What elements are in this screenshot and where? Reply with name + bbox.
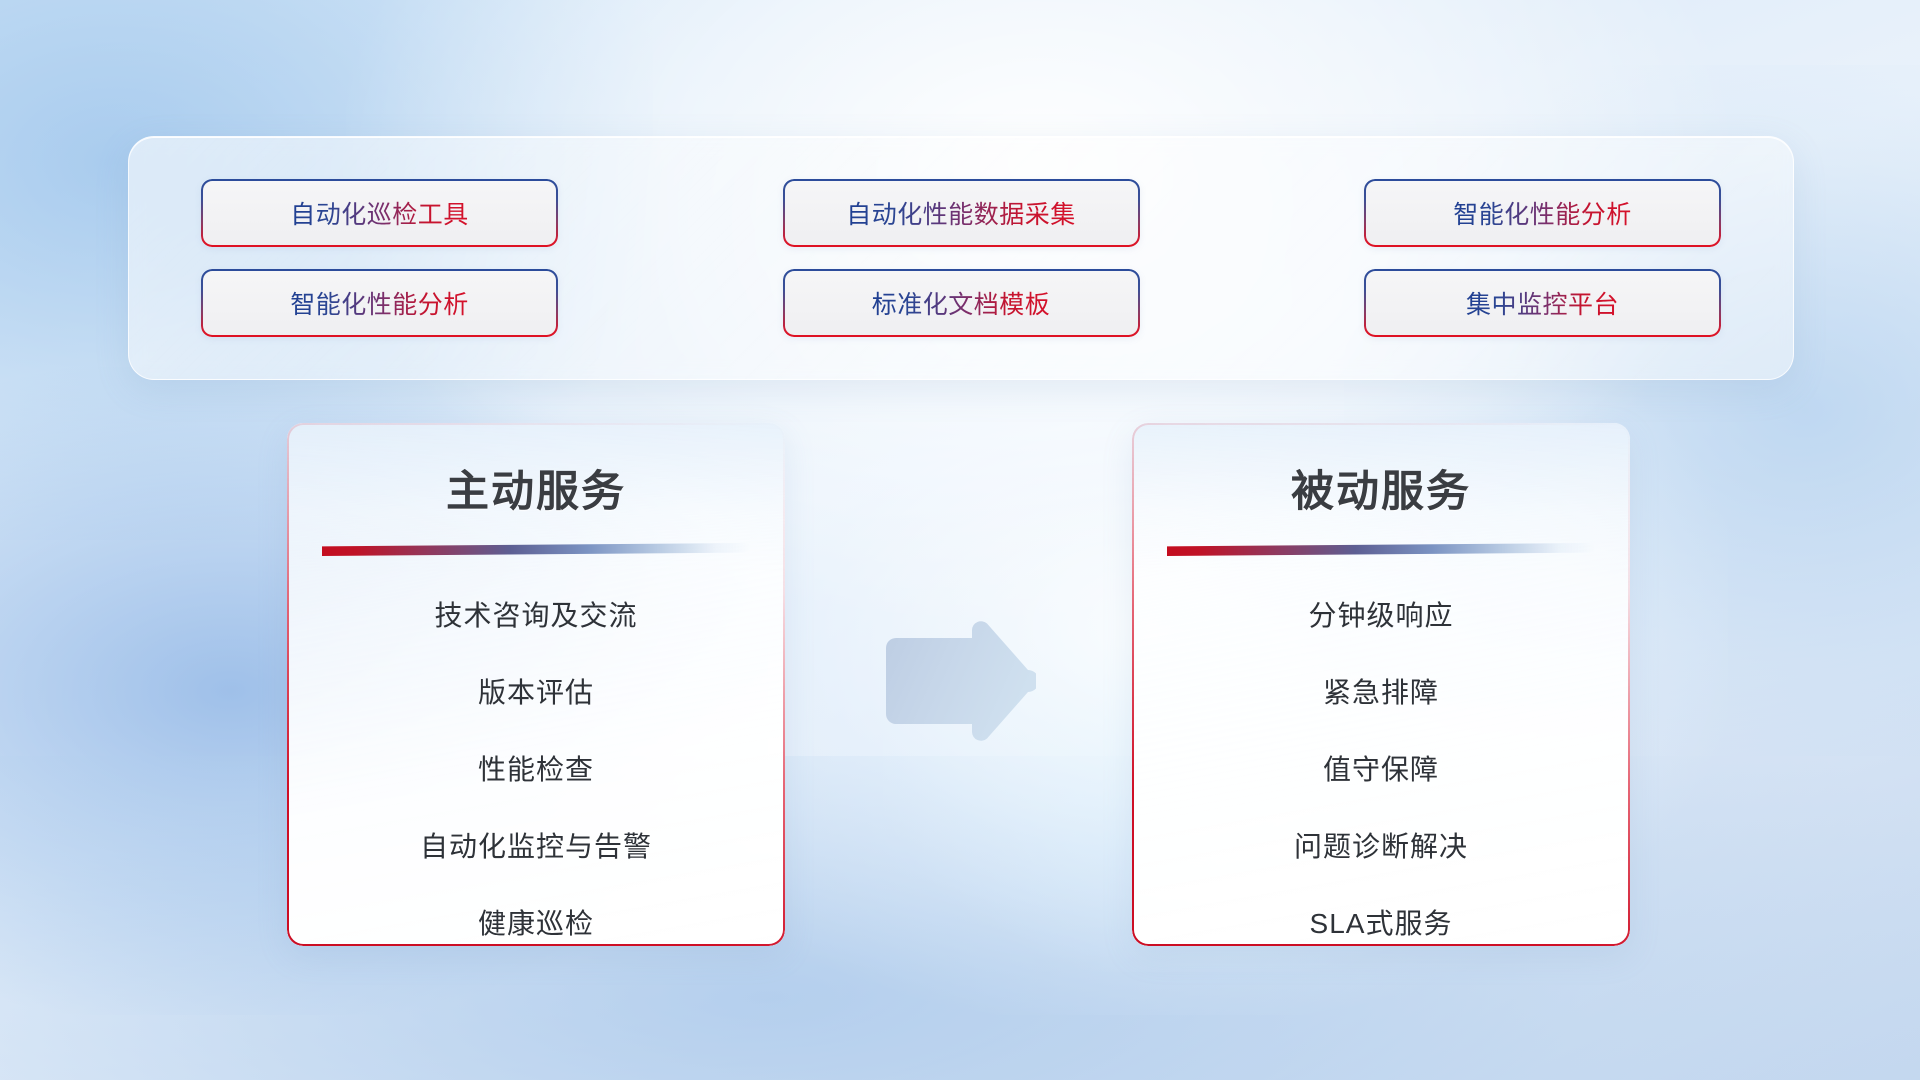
title-divider [322, 543, 750, 556]
capability-pill-label: 集中监控平台 [1466, 285, 1619, 321]
capability-pill-label: 标准化文档模板 [872, 285, 1051, 321]
capability-pill-label: 自动化巡检工具 [290, 195, 469, 231]
service-card-title: 主动服务 [287, 457, 785, 519]
service-card-title: 被动服务 [1132, 457, 1630, 519]
service-list-item: 性能检查 [478, 756, 594, 784]
capability-pill-automated-performance-data-collection[interactable]: 自动化性能数据采集 [783, 179, 1140, 247]
capability-pill-centralized-monitoring-platform[interactable]: 集中监控平台 [1364, 269, 1721, 337]
capabilities-row-2: 智能化性能分析 标准化文档模板 集中监控平台 [201, 269, 1721, 337]
service-list-item: 值守保障 [1323, 756, 1439, 784]
service-list-item: SLA式服务 [1310, 910, 1453, 938]
capability-pill-intelligent-performance-analysis-2[interactable]: 智能化性能分析 [201, 269, 558, 337]
capability-pill-label: 智能化性能分析 [290, 285, 469, 321]
capability-pill-automated-inspection-tool[interactable]: 自动化巡检工具 [201, 179, 558, 247]
service-item-list: 分钟级响应 紧急排障 值守保障 问题诊断解决 SLA式服务 [1132, 602, 1630, 938]
service-card-proactive: 主动服务 技术咨询及交流 版本评估 性能检查 自动化监控与告警 健康巡检 [287, 423, 785, 946]
service-list-item: 版本评估 [478, 679, 594, 707]
arrow-right-icon [876, 620, 1036, 742]
service-list-item: 分钟级响应 [1308, 602, 1453, 630]
service-list-item: 紧急排障 [1323, 679, 1439, 707]
capability-pill-label: 自动化性能数据采集 [846, 195, 1076, 231]
service-list-item: 健康巡检 [478, 910, 594, 938]
capability-pill-standardized-document-template[interactable]: 标准化文档模板 [783, 269, 1140, 337]
service-card-reactive: 被动服务 分钟级响应 紧急排障 值守保障 问题诊断解决 SLA式服务 [1132, 423, 1630, 946]
service-item-list: 技术咨询及交流 版本评估 性能检查 自动化监控与告警 健康巡检 [287, 602, 785, 938]
title-divider [1167, 543, 1595, 556]
capabilities-row-1: 自动化巡检工具 自动化性能数据采集 智能化性能分析 [201, 179, 1721, 247]
capabilities-panel: 自动化巡检工具 自动化性能数据采集 智能化性能分析 智能化性能分析 标准化文档模… [128, 136, 1794, 380]
service-list-item: 自动化监控与告警 [420, 833, 652, 861]
capability-pill-intelligent-performance-analysis-1[interactable]: 智能化性能分析 [1364, 179, 1721, 247]
service-list-item: 技术咨询及交流 [434, 602, 637, 630]
service-list-item: 问题诊断解决 [1294, 833, 1468, 861]
capability-pill-label: 智能化性能分析 [1453, 195, 1632, 231]
